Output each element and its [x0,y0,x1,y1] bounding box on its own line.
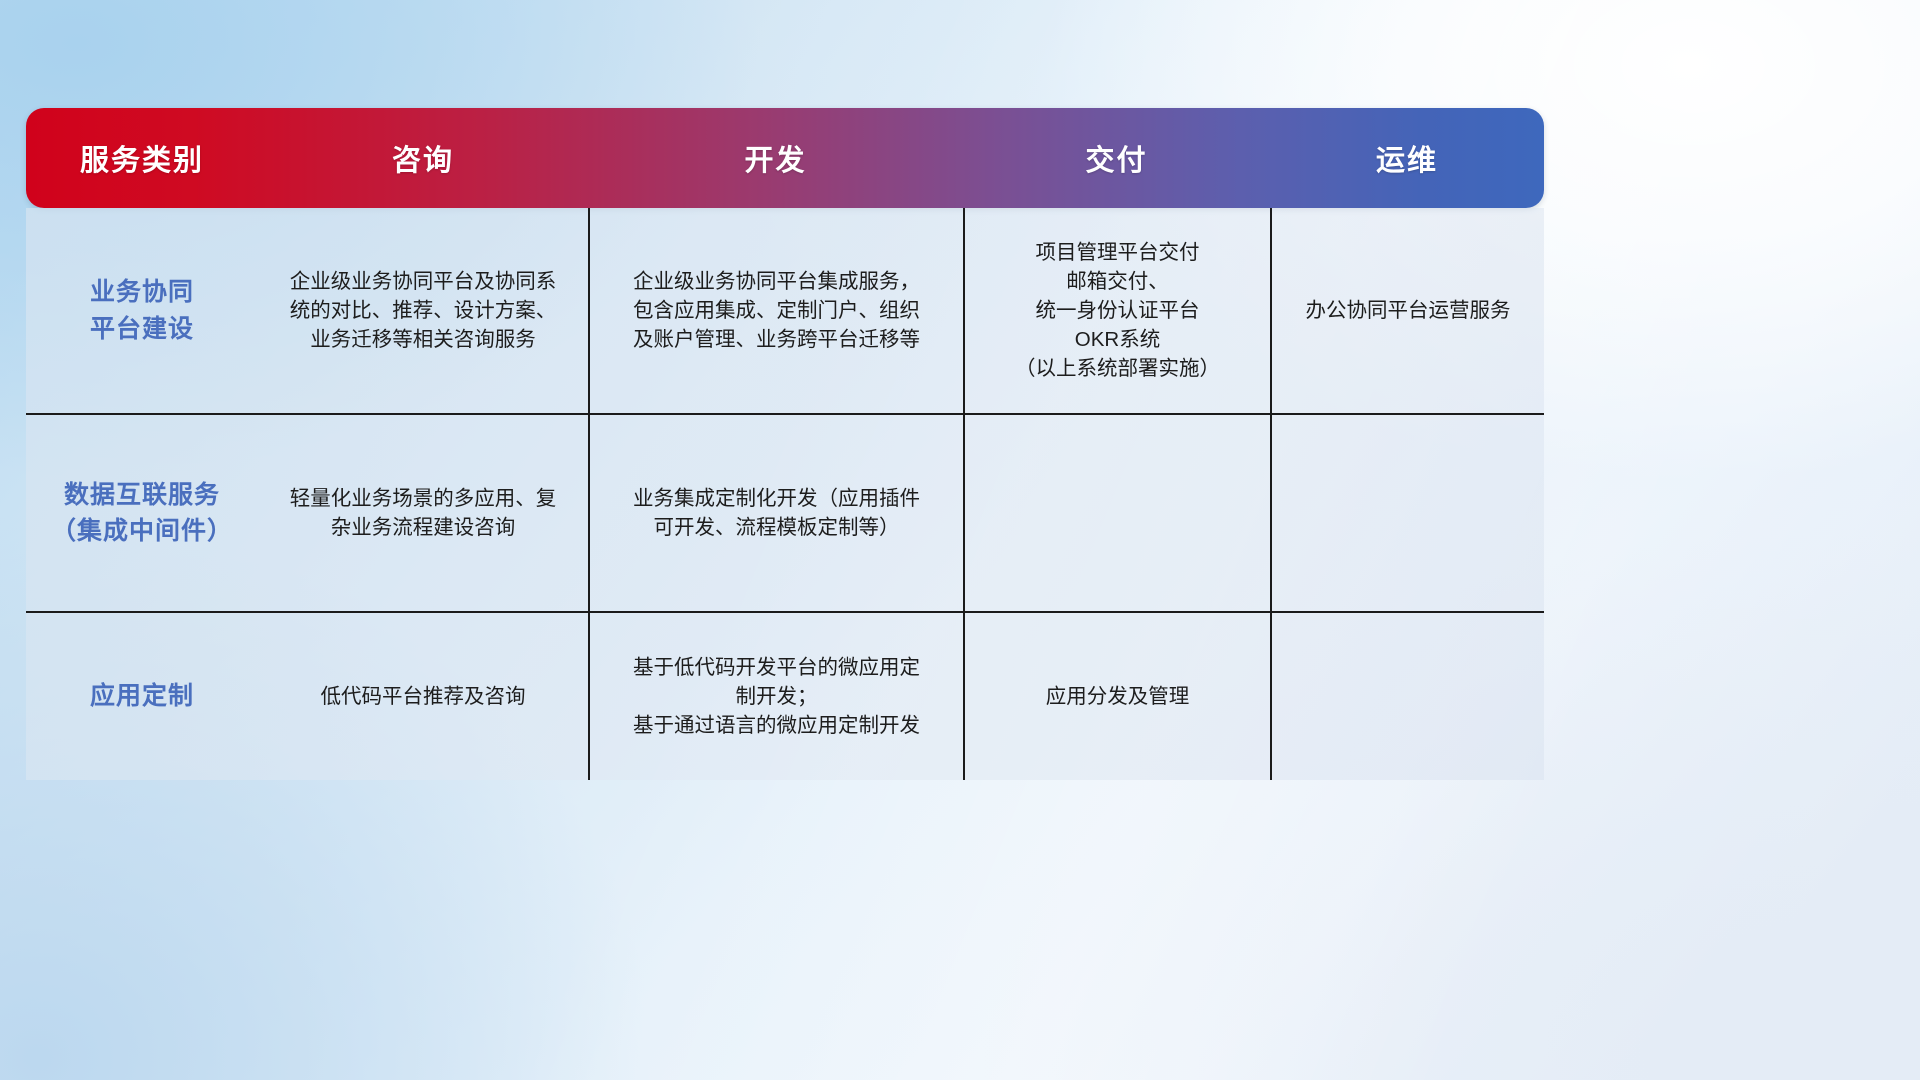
column-header-category: 服务类别 [26,108,258,208]
table-row: 业务协同 平台建设 企业级业务协同平台及协同系 统的对比、推荐、设计方案、 业务… [26,208,1544,413]
column-header-delivery: 交付 [963,108,1270,208]
cell-development: 业务集成定制化开发（应用插件 可开发、流程模板定制等） [588,415,963,611]
cell-delivery [963,415,1270,611]
cell-development: 基于低代码开发平台的微应用定 制开发； 基于通过语言的微应用定制开发 [588,613,963,780]
table-row: 应用定制 低代码平台推荐及咨询 基于低代码开发平台的微应用定 制开发； 基于通过… [26,611,1544,780]
cell-delivery: 应用分发及管理 [963,613,1270,780]
cell-consulting: 企业级业务协同平台及协同系 统的对比、推荐、设计方案、 业务迁移等相关咨询服务 [258,208,588,413]
cell-operations: 办公协同平台运营服务 [1270,208,1544,413]
table-header-row: 服务类别 咨询 开发 交付 运维 [26,108,1544,208]
cell-operations [1270,613,1544,780]
column-header-operations: 运维 [1270,108,1544,208]
cell-consulting: 轻量化业务场景的多应用、复 杂业务流程建设咨询 [258,415,588,611]
cell-development: 企业级业务协同平台集成服务， 包含应用集成、定制门户、组织 及账户管理、业务跨平… [588,208,963,413]
table-body: 业务协同 平台建设 企业级业务协同平台及协同系 统的对比、推荐、设计方案、 业务… [26,208,1544,780]
table-row: 数据互联服务 （集成中间件） 轻量化业务场景的多应用、复 杂业务流程建设咨询 业… [26,413,1544,611]
column-header-consulting: 咨询 [258,108,588,208]
cell-consulting: 低代码平台推荐及咨询 [258,613,588,780]
column-header-development: 开发 [588,108,963,208]
row-label: 业务协同 平台建设 [26,208,258,413]
cell-operations [1270,415,1544,611]
row-label: 应用定制 [26,613,258,780]
cell-delivery: 项目管理平台交付 邮箱交付、 统一身份认证平台 OKR系统 （以上系统部署实施） [963,208,1270,413]
service-matrix-table: 服务类别 咨询 开发 交付 运维 业务协同 平台建设 企业级业务协同平台及协同系… [26,108,1544,780]
row-label: 数据互联服务 （集成中间件） [26,415,258,611]
